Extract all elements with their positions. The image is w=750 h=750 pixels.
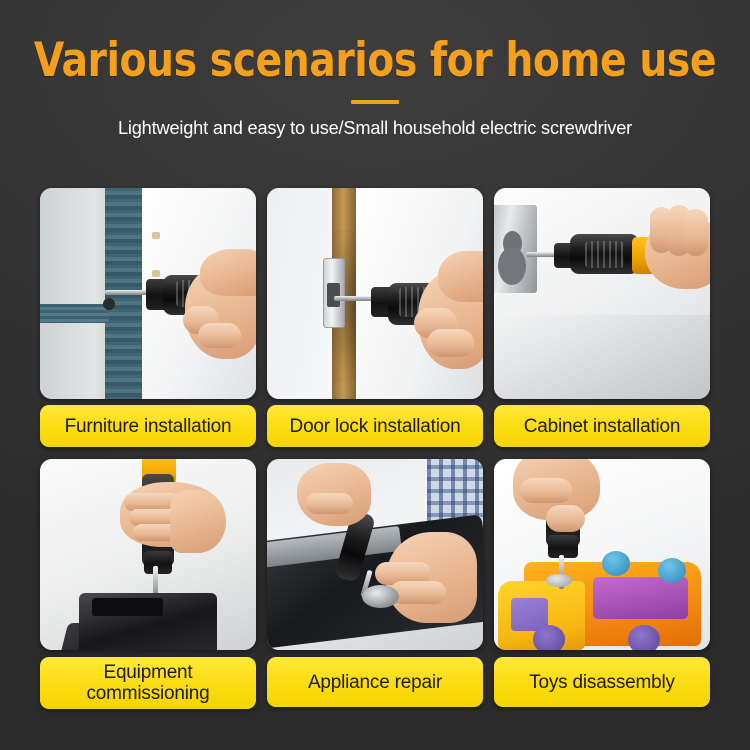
scenario-card-door-lock-installation[interactable]: Door lock installation xyxy=(267,188,483,447)
scenario-label-cabinet-installation: Cabinet installation xyxy=(494,405,710,447)
scenario-label-furniture-installation: Furniture installation xyxy=(40,405,256,447)
scenario-label-appliance-repair: Appliance repair xyxy=(267,657,483,707)
scenario-card-equipment-commissioning[interactable]: Equipment commissioning xyxy=(40,459,256,709)
scenario-card-toys-disassembly[interactable]: Toys disassembly xyxy=(494,459,710,709)
scenario-card-appliance-repair[interactable]: Appliance repair xyxy=(267,459,483,709)
scenario-photo-door-lock-installation xyxy=(267,188,483,399)
page-subtitle: Lightweight and easy to use/Small househ… xyxy=(6,117,745,139)
scenario-label-equipment-commissioning: Equipment commissioning xyxy=(40,657,256,709)
scenario-photo-toys-disassembly xyxy=(494,459,710,650)
scenario-photo-equipment-commissioning xyxy=(40,459,256,650)
scenario-photo-furniture-installation xyxy=(40,188,256,399)
scenario-grid: Furniture installation xyxy=(40,188,710,709)
promo-banner: Various scenarios for home use Lightweig… xyxy=(0,0,750,750)
title-divider xyxy=(351,100,399,104)
scenario-card-cabinet-installation[interactable]: Cabinet installation xyxy=(494,188,710,447)
scenario-label-door-lock-installation: Door lock installation xyxy=(267,405,483,447)
scenario-photo-cabinet-installation xyxy=(494,188,710,399)
scenario-card-furniture-installation[interactable]: Furniture installation xyxy=(40,188,256,447)
banner-header: Various scenarios for home use Lightweig… xyxy=(0,0,750,176)
scenario-label-toys-disassembly: Toys disassembly xyxy=(494,657,710,707)
scenario-photo-appliance-repair xyxy=(267,459,483,650)
page-title: Various scenarios for home use xyxy=(26,0,724,86)
